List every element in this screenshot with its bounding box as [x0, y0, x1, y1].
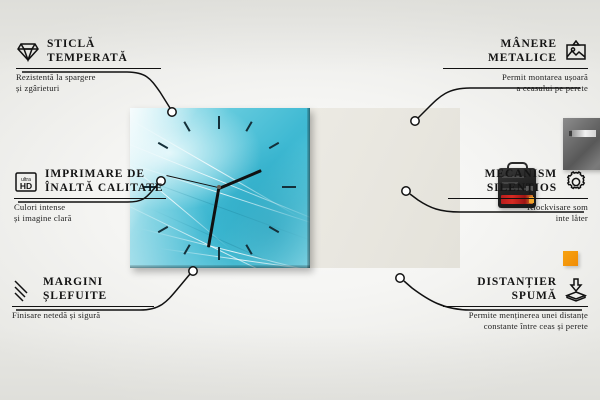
metal-hanger-plate: [563, 118, 600, 170]
clock-tick: [218, 116, 220, 129]
callout-title-line1: MÂNERE: [488, 38, 557, 52]
callout-rule: [14, 198, 166, 199]
callout-title-line2: METALICE: [488, 52, 557, 66]
callout-title-line2: SPUMĂ: [477, 290, 557, 304]
callout-subtitle-line1: Culori intense: [14, 202, 166, 213]
gear-icon: [564, 170, 588, 194]
clock-tick: [218, 247, 220, 260]
callout-rule: [443, 306, 588, 307]
callout-title-line2: TEMPERATĂ: [47, 52, 128, 66]
callout-header: MÂNERE METALICE: [443, 38, 588, 65]
callout-subtitle-line1: Klockvisare som: [448, 202, 588, 213]
callout-title-line1: IMPRIMARE DE: [45, 168, 163, 182]
callout-rule: [16, 68, 161, 69]
callout-subtitle-line1: Rezistentă la spargere: [16, 72, 161, 83]
callout-title-line1: MECANISM: [485, 168, 557, 182]
callout-subtitle-line1: Permite menținerea unei distanțe: [443, 310, 588, 321]
callout-header: MECANISM SILENȚIOS: [448, 168, 588, 195]
callout-tempered-glass[interactable]: STICLĂ TEMPERATĂ Rezistentă la spargere …: [16, 38, 161, 94]
callout-header: DISTANȚIER SPUMĂ: [443, 276, 588, 303]
callout-title-line2: SILENȚIOS: [485, 182, 557, 196]
callout-title-line1: DISTANȚIER: [477, 276, 557, 290]
callout-subtitle-line2: inte låter: [448, 213, 588, 224]
callout-silent-mechanism[interactable]: MECANISM SILENȚIOS Klockvisare som inte …: [448, 168, 588, 224]
callout-subtitle-line1: Finisare netedă și sigură: [12, 310, 154, 321]
callout-rule: [448, 198, 588, 199]
ultra-hd-icon: ultra HD: [14, 170, 38, 194]
clock-tick: [282, 186, 296, 188]
product-photo: [130, 108, 460, 268]
callout-rule: [12, 306, 154, 307]
callout-metal-handles[interactable]: MÂNERE METALICE Permit montarea ușoară a…: [443, 38, 588, 94]
callout-polished-edges[interactable]: MARGINI ȘLEFUITE Finisare netedă și sigu…: [12, 276, 154, 321]
clock-center-hub: [217, 185, 221, 189]
callout-hd-print[interactable]: ultra HD IMPRIMARE DE ÎNALTĂ CALITATE Cu…: [14, 168, 166, 224]
callout-subtitle-line2: și zgârieturi: [16, 83, 161, 94]
svg-text:HD: HD: [20, 181, 32, 191]
callout-header: MARGINI ȘLEFUITE: [12, 276, 154, 303]
wall-panel-background: [305, 108, 460, 268]
clock-edge-shadow: [130, 265, 310, 268]
infographic-canvas: STICLĂ TEMPERATĂ Rezistentă la spargere …: [0, 0, 600, 400]
callout-rule: [443, 68, 588, 69]
callout-title-line1: STICLĂ: [47, 38, 128, 52]
callout-title-line2: ÎNALTĂ CALITATE: [45, 182, 163, 196]
callout-subtitle-line2: și imagine clară: [14, 213, 166, 224]
callout-title-line2: ȘLEFUITE: [43, 290, 107, 304]
polished-edges-icon: [12, 278, 36, 302]
foam-spacer-icon: [564, 278, 588, 302]
diamond-icon: [16, 40, 40, 64]
foam-spacer: [563, 251, 578, 266]
callout-header: STICLĂ TEMPERATĂ: [16, 38, 161, 65]
callout-subtitle-line1: Permit montarea ușoară: [443, 72, 588, 83]
callout-title-line1: MARGINI: [43, 276, 107, 290]
callout-subtitle-line2: a ceasului pe perete: [443, 83, 588, 94]
callout-subtitle-line2: constante între ceas și perete: [443, 321, 588, 332]
clock-edge-shadow: [307, 108, 310, 268]
picture-hanger-icon: [564, 40, 588, 64]
callout-foam-spacer[interactable]: DISTANȚIER SPUMĂ Permite menținerea unei…: [443, 276, 588, 332]
callout-header: ultra HD IMPRIMARE DE ÎNALTĂ CALITATE: [14, 168, 166, 195]
